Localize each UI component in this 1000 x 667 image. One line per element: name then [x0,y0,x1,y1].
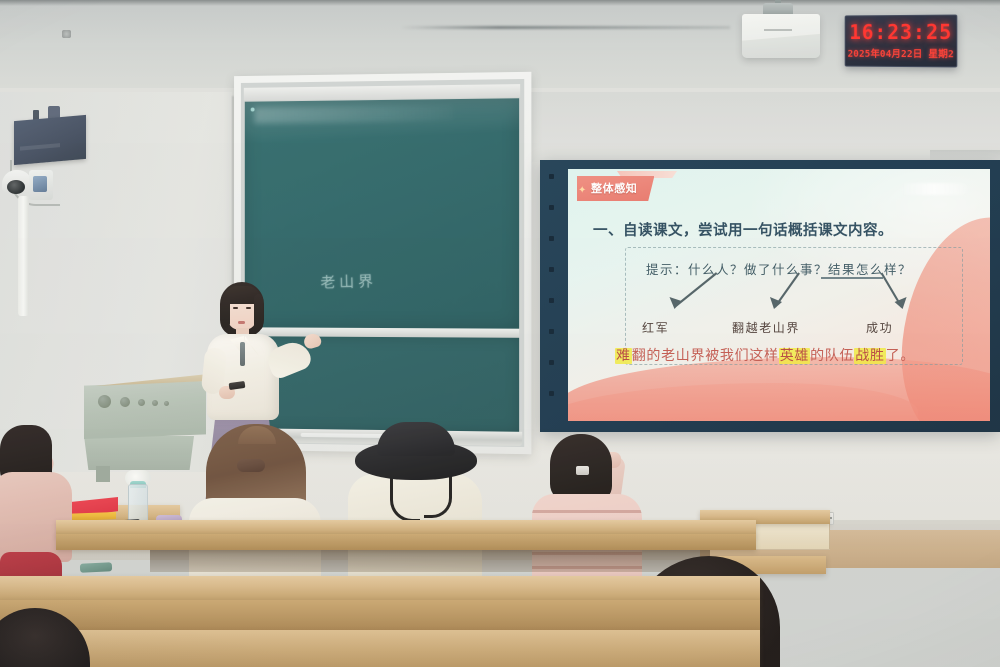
slide-question: 一、自读课文，尝试用一句话概括课文内容。 [593,219,893,240]
hair-bow [237,459,265,472]
digital-wall-clock: 16:23:25 2025年04月22日 星期2 [845,15,958,68]
ceiling-edge [0,0,1000,6]
blackboard-glare [255,105,454,123]
sentence-highlight: 战胜 [854,348,885,364]
desk-surface [0,576,760,602]
wall-speaker-icon [14,115,86,165]
slide-decor-wave-front [568,357,990,421]
sentence-highlight: 英雄 [779,348,810,364]
slide-answer-3: 成功 [866,319,893,336]
sentence-highlight: 难 [615,348,632,364]
clock-time: 16:23:25 [846,20,957,44]
desk-surface [60,630,760,667]
teacher-mouth [238,321,245,324]
slide-answer-2: 翻越老山界 [732,319,800,336]
sentence-text: 了。 [886,348,915,364]
desk-front-panel [56,534,756,550]
classroom-scene: 老山界 16:23:25 2025年04月22日 星期2 整体感知 ✦ 一、自读… [0,0,1000,667]
slide-badge-wrap: 整体感知 ✦ [577,176,654,201]
wall-right-upper [520,92,1000,162]
slide-badge: 整体感知 [577,176,654,201]
ceiling-seam [400,26,730,29]
podium-foot [96,466,110,482]
ptz-camera-lens-icon [33,176,47,192]
wall-pipe [18,196,29,316]
slide-answer-row: 红军 翻越老山界 成功 [568,319,990,339]
sparkle-icon: ✦ [578,186,587,195]
ceiling-projector-icon [742,14,820,58]
hair-clip [576,466,589,475]
projection-screen[interactable]: 整体感知 ✦ 一、自读课文，尝试用一句话概括课文内容。 提示：什么人？做了什么事… [568,169,990,421]
teacher-neck-tie [240,342,245,366]
chalk-dot [251,108,255,112]
slide-decor-cloud [898,183,968,195]
slide-summary-sentence: 难翻的老山界被我们这样英雄的队伍战胜了。 [615,345,915,365]
slide-arrows [568,265,990,327]
bucket-hat-crown [377,422,455,456]
clock-date: 2025年04月22日 星期2 [846,46,957,60]
teacher-hair-right [254,294,263,330]
dome-camera-icon [2,170,32,192]
slide-answer-1: 红军 [642,319,669,336]
desk-front-panel [0,600,760,630]
sentence-text: 翻的老山界被我们这样 [632,348,779,364]
projection-screen-bezel: 整体感知 ✦ 一、自读课文，尝试用一句话概括课文内容。 提示：什么人？做了什么事… [540,160,1000,432]
sentence-text: 的队伍 [810,348,854,364]
desk-shadow [150,550,710,572]
projector-lens-icon [62,30,71,38]
teacher-hair-left [221,294,230,328]
bezel-ticks [549,174,559,418]
green-marker[interactable] [80,562,112,573]
